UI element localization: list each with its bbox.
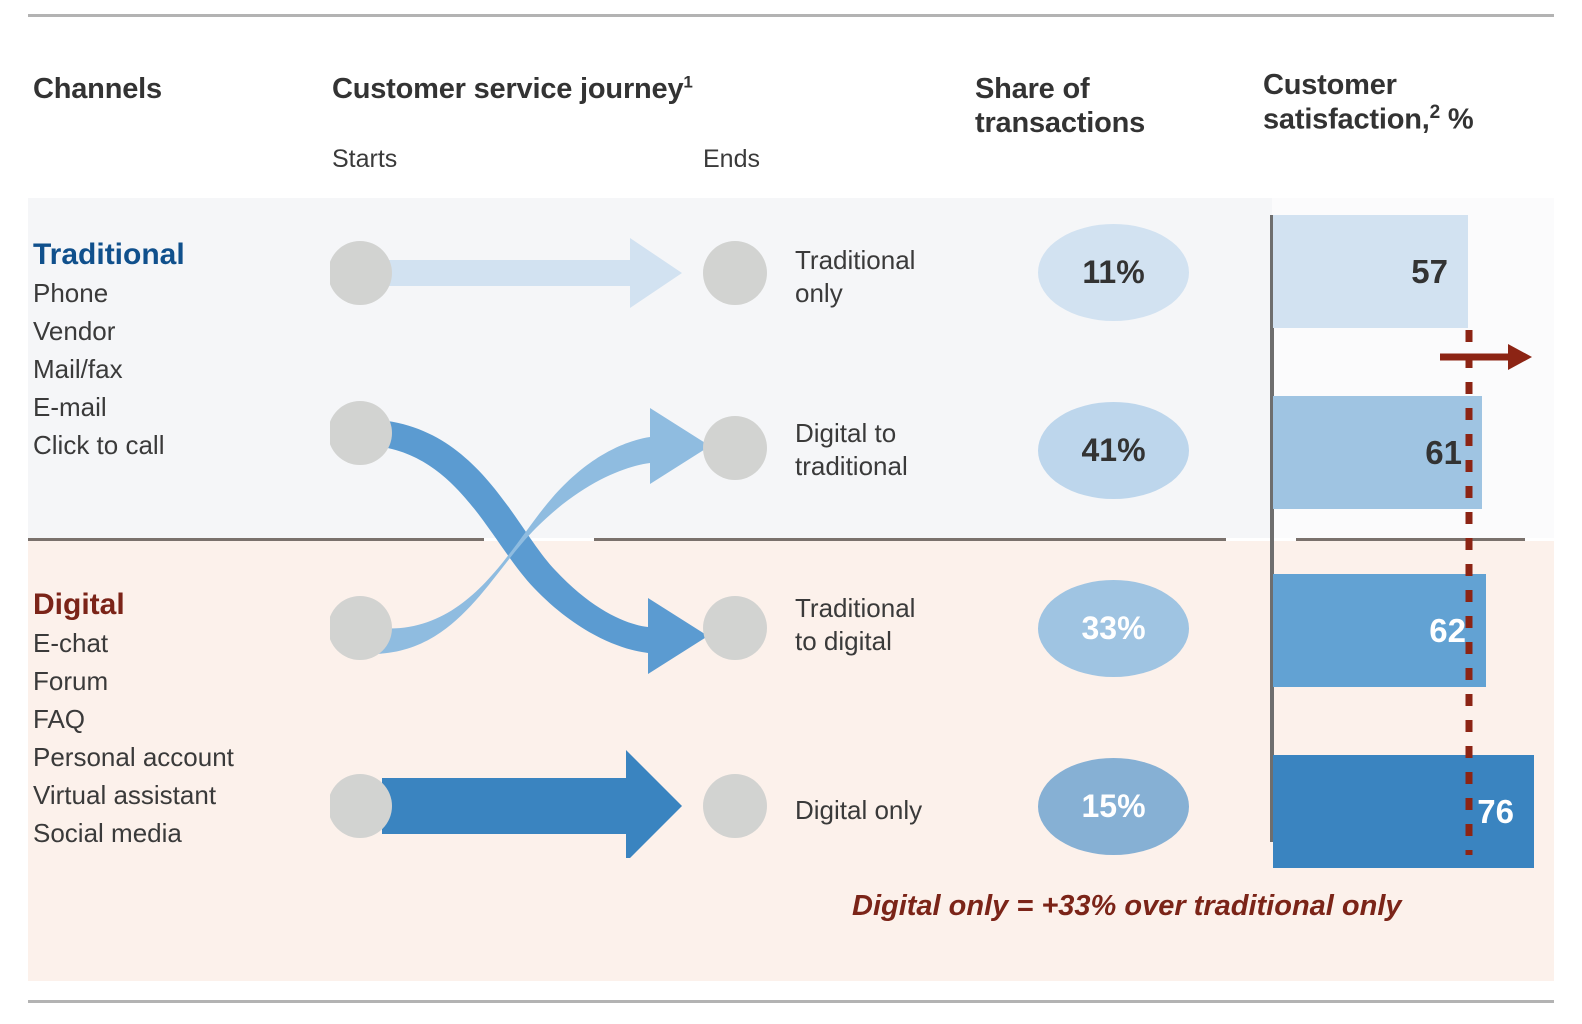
share-bubble: 33% [1038, 580, 1189, 677]
journey-outcome-label: Digital totraditional [795, 417, 908, 484]
group-title-digital: Digital [33, 588, 313, 621]
outcome-line1: Digital to [795, 418, 896, 448]
top-rule [28, 14, 1554, 17]
footnote-marker-1: 1 [683, 72, 692, 91]
outcome-line2: only [795, 278, 843, 308]
journey-outcome-label: Traditionalonly [795, 244, 915, 311]
group-title-traditional: Traditional [33, 238, 313, 271]
outcome-line1: Digital only [795, 795, 922, 825]
channel-item: Vendor [33, 313, 313, 351]
journey-start-node [330, 401, 392, 465]
footnote-marker-2: 2 [1430, 102, 1440, 123]
channel-item: Mail/fax [33, 351, 313, 389]
journey-start-node [330, 774, 392, 838]
channel-group-traditional: Traditional Phone Vendor Mail/fax E-mail… [33, 238, 313, 465]
header-csat-line2: satisfaction, [1263, 104, 1430, 136]
share-bubble: 41% [1038, 402, 1189, 499]
customer-journey-diagram [330, 198, 780, 858]
share-bubble: 15% [1038, 758, 1189, 855]
channel-item: FAQ [33, 701, 313, 739]
journey-end-node [703, 774, 767, 838]
outcome-line2: to digital [795, 626, 892, 656]
header-share-of-transactions: Share oftransactions [975, 72, 1145, 140]
channel-item: Social media [33, 815, 313, 853]
journey-end-node [703, 416, 767, 480]
channel-item: E-mail [33, 389, 313, 427]
annotation-arrow-icon [1440, 344, 1532, 370]
header-share-line1: Share of [975, 73, 1089, 105]
header-share-line2: transactions [975, 107, 1145, 139]
channel-item: Personal account [33, 739, 313, 777]
channel-item: Virtual assistant [33, 777, 313, 815]
header-channels: Channels [33, 72, 162, 106]
channel-group-digital: Digital E-chat Forum FAQ Personal accoun… [33, 588, 313, 853]
channel-item: Phone [33, 275, 313, 313]
header-csat-line1: Customer [1263, 69, 1397, 101]
outcome-line1: Traditional [795, 245, 915, 275]
channel-item: Forum [33, 663, 313, 701]
journey-end-node [703, 596, 767, 660]
outcome-line2: traditional [795, 451, 908, 481]
channel-item: Click to call [33, 427, 313, 465]
journey-start-node [330, 596, 392, 660]
journey-ends-label: Ends [703, 145, 760, 174]
journey-arrow-traditional-only [382, 238, 682, 308]
outcome-line1: Traditional [795, 593, 915, 623]
journey-end-node [703, 241, 767, 305]
header-customer-service-journey: Customer service journey1 [332, 72, 693, 106]
satisfaction-delta-annotation [1440, 300, 1582, 860]
journey-outcome-label: Traditionalto digital [795, 592, 915, 659]
journey-outcome-label: Digital only [795, 794, 922, 827]
channel-item: E-chat [33, 625, 313, 663]
header-csat-unit: % [1448, 104, 1474, 136]
header-customer-satisfaction: Customersatisfaction,2 % [1263, 68, 1473, 137]
satisfaction-bar: 57 [1273, 215, 1468, 328]
share-bubble: 11% [1038, 224, 1189, 321]
journey-arrow-digital-only [382, 750, 682, 858]
journey-start-node [330, 241, 392, 305]
header-journey-text: Customer service journey [332, 73, 683, 105]
journey-starts-label: Starts [332, 145, 397, 174]
digital-vs-traditional-callout: Digital only = +33% over traditional onl… [852, 890, 1402, 923]
bottom-rule [28, 1000, 1554, 1003]
